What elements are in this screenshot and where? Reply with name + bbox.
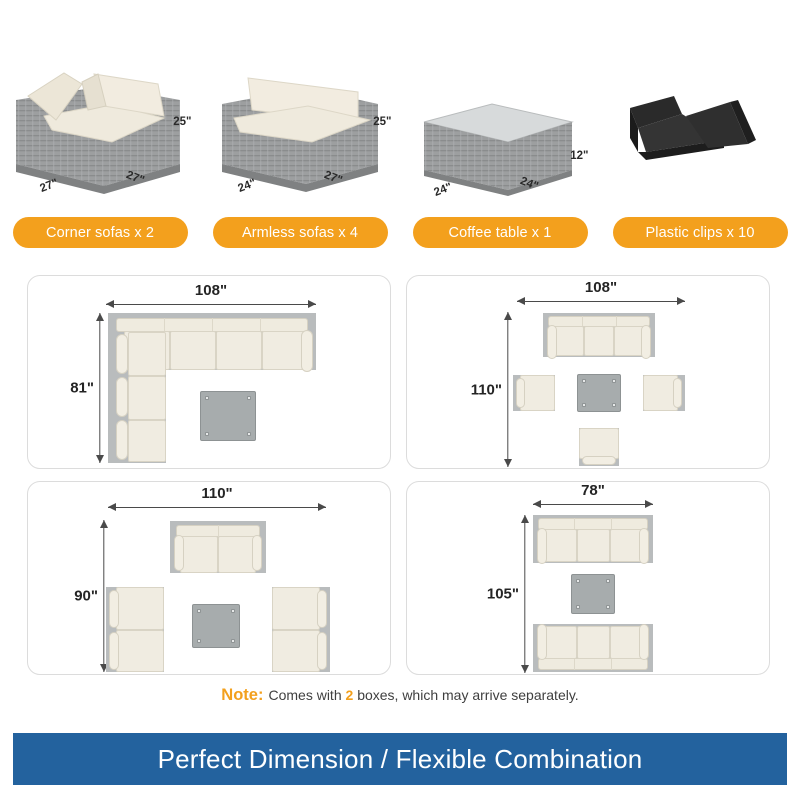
arm-bolster <box>174 535 184 571</box>
dimension-depth-label: 81" <box>70 380 94 397</box>
configuration-card-sofa-with-chairs: 108" 110" <box>406 275 770 469</box>
configuration-cards: 108" 81" <box>0 272 800 684</box>
product-label-corner-sofa: Corner sofas x 2 <box>13 217 188 248</box>
banner-title: Perfect Dimension / Flexible Combination <box>158 744 643 775</box>
dimension-width-facing-sofas: 78" <box>533 498 653 510</box>
note-text: Note:Comes with 2 boxes, which may arriv… <box>0 686 800 705</box>
seat-cushion <box>272 630 320 672</box>
seat-cushion <box>128 332 166 376</box>
plastic-clip-illustration <box>608 48 793 213</box>
plastic-clip-icon <box>608 48 793 213</box>
corner-sofa-height-label: 25" <box>173 116 191 128</box>
seam <box>164 318 165 332</box>
arm-bolster <box>116 420 128 460</box>
dimension-depth-label: 105" <box>487 586 519 603</box>
configuration-card-l-shape-sectional: 108" 81" <box>27 275 391 469</box>
coffee-table-icon: 12" 24" 24" <box>408 48 593 213</box>
back-bolster <box>673 378 682 408</box>
seat-cushion <box>554 326 584 356</box>
product-label-coffee-table: Coffee table x 1 <box>413 217 588 248</box>
back-bolster <box>582 456 616 465</box>
arm-bolster <box>252 535 262 571</box>
back-bolster <box>317 590 327 628</box>
arm-bolster <box>641 325 651 359</box>
coffee-table-top-view <box>192 604 240 648</box>
seam <box>611 658 612 670</box>
armless-sofa-icon: 25" 24" 27" <box>208 48 393 213</box>
dimension-width-l-shape: 108" <box>106 298 316 310</box>
seat-cushion <box>579 428 619 459</box>
product-cell-armless-sofa: 25" 24" 27" Armless sofas x 4 <box>200 28 400 248</box>
seat-cushion <box>614 326 644 356</box>
seat-cushion <box>218 536 256 573</box>
seat-cushion <box>128 420 166 462</box>
seat-cushion <box>544 529 577 562</box>
seat-cushion <box>116 630 164 672</box>
seat-cushion <box>584 326 614 356</box>
seam <box>260 318 261 332</box>
corner-sofa-illustration <box>8 48 193 213</box>
armless-sofa-illustration <box>208 48 393 213</box>
dimension-depth-label: 90" <box>74 588 98 605</box>
coffee-table-height-label: 12" <box>570 150 588 162</box>
note-lead: Note: <box>221 686 263 704</box>
arm-bolster <box>639 624 649 660</box>
seat-cushion <box>216 331 262 370</box>
arm-bolster <box>537 624 547 660</box>
corner-sofa-icon: 25" 27" 27" <box>8 48 193 213</box>
note-highlight: 2 <box>346 687 354 703</box>
dimension-width-label: 108" <box>106 282 316 299</box>
dimension-width-loveseat: 110" <box>108 501 326 513</box>
dimension-depth-l-shape: 81" <box>94 313 106 463</box>
coffee-table-top-view <box>571 574 615 614</box>
note-text-after: boxes, which may arrive separately. <box>357 687 579 703</box>
product-cell-corner-sofa: 25" 27" 27" Corner sofas x 2 <box>0 28 200 248</box>
arm-bolster <box>537 528 547 564</box>
seat-cushion <box>520 375 555 411</box>
dimension-depth-facing-sofas: 105" <box>519 515 531 673</box>
coffee-table-top-view <box>200 391 256 441</box>
back-bolster <box>516 378 525 408</box>
seat-cushion <box>272 587 320 630</box>
product-cell-coffee-table: 12" 24" 24" Coffee table x 1 <box>400 28 600 248</box>
configuration-card-facing-sofas: 78" 105" <box>406 481 770 675</box>
dimension-width-sofa-with-chairs: 108" <box>517 295 685 307</box>
note-text-before: Comes with <box>268 687 341 703</box>
product-label-armless-sofa: Armless sofas x 4 <box>213 217 388 248</box>
back-bolster <box>109 590 119 628</box>
seat-cushion <box>577 529 610 562</box>
coffee-table-top-view <box>577 374 621 412</box>
configuration-card-loveseat-with-pairs: 110" 90" <box>27 481 391 675</box>
arm-bolster <box>639 528 649 564</box>
seam <box>574 658 575 670</box>
seat-cushion <box>180 536 218 573</box>
back-bolster <box>109 632 119 670</box>
seat-cushion <box>170 331 216 370</box>
seat-cushion <box>116 587 164 630</box>
dimension-depth-label: 110" <box>471 381 502 398</box>
arm-bolster <box>116 334 128 374</box>
dimension-width-label: 78" <box>533 482 653 499</box>
seat-cushion <box>544 626 577 659</box>
dimension-width-label: 110" <box>108 485 326 502</box>
product-legend-row: 25" 27" 27" Corner sofas x 2 25" 24" 27"… <box>0 28 800 248</box>
arm-bolster <box>547 325 557 359</box>
dimension-width-label: 108" <box>517 279 685 296</box>
armless-sofa-height-label: 25" <box>373 116 391 128</box>
product-cell-plastic-clips: Plastic clips x 10 <box>600 28 800 248</box>
arm-bolster <box>301 330 313 372</box>
sofa-back-pillows <box>538 658 648 670</box>
bottom-banner: Perfect Dimension / Flexible Combination <box>13 733 787 785</box>
seam <box>212 318 213 332</box>
seat-cushion <box>577 626 610 659</box>
arm-bolster <box>116 377 128 417</box>
product-label-plastic-clips: Plastic clips x 10 <box>613 217 788 248</box>
seat-cushion <box>128 376 166 420</box>
back-bolster <box>317 632 327 670</box>
